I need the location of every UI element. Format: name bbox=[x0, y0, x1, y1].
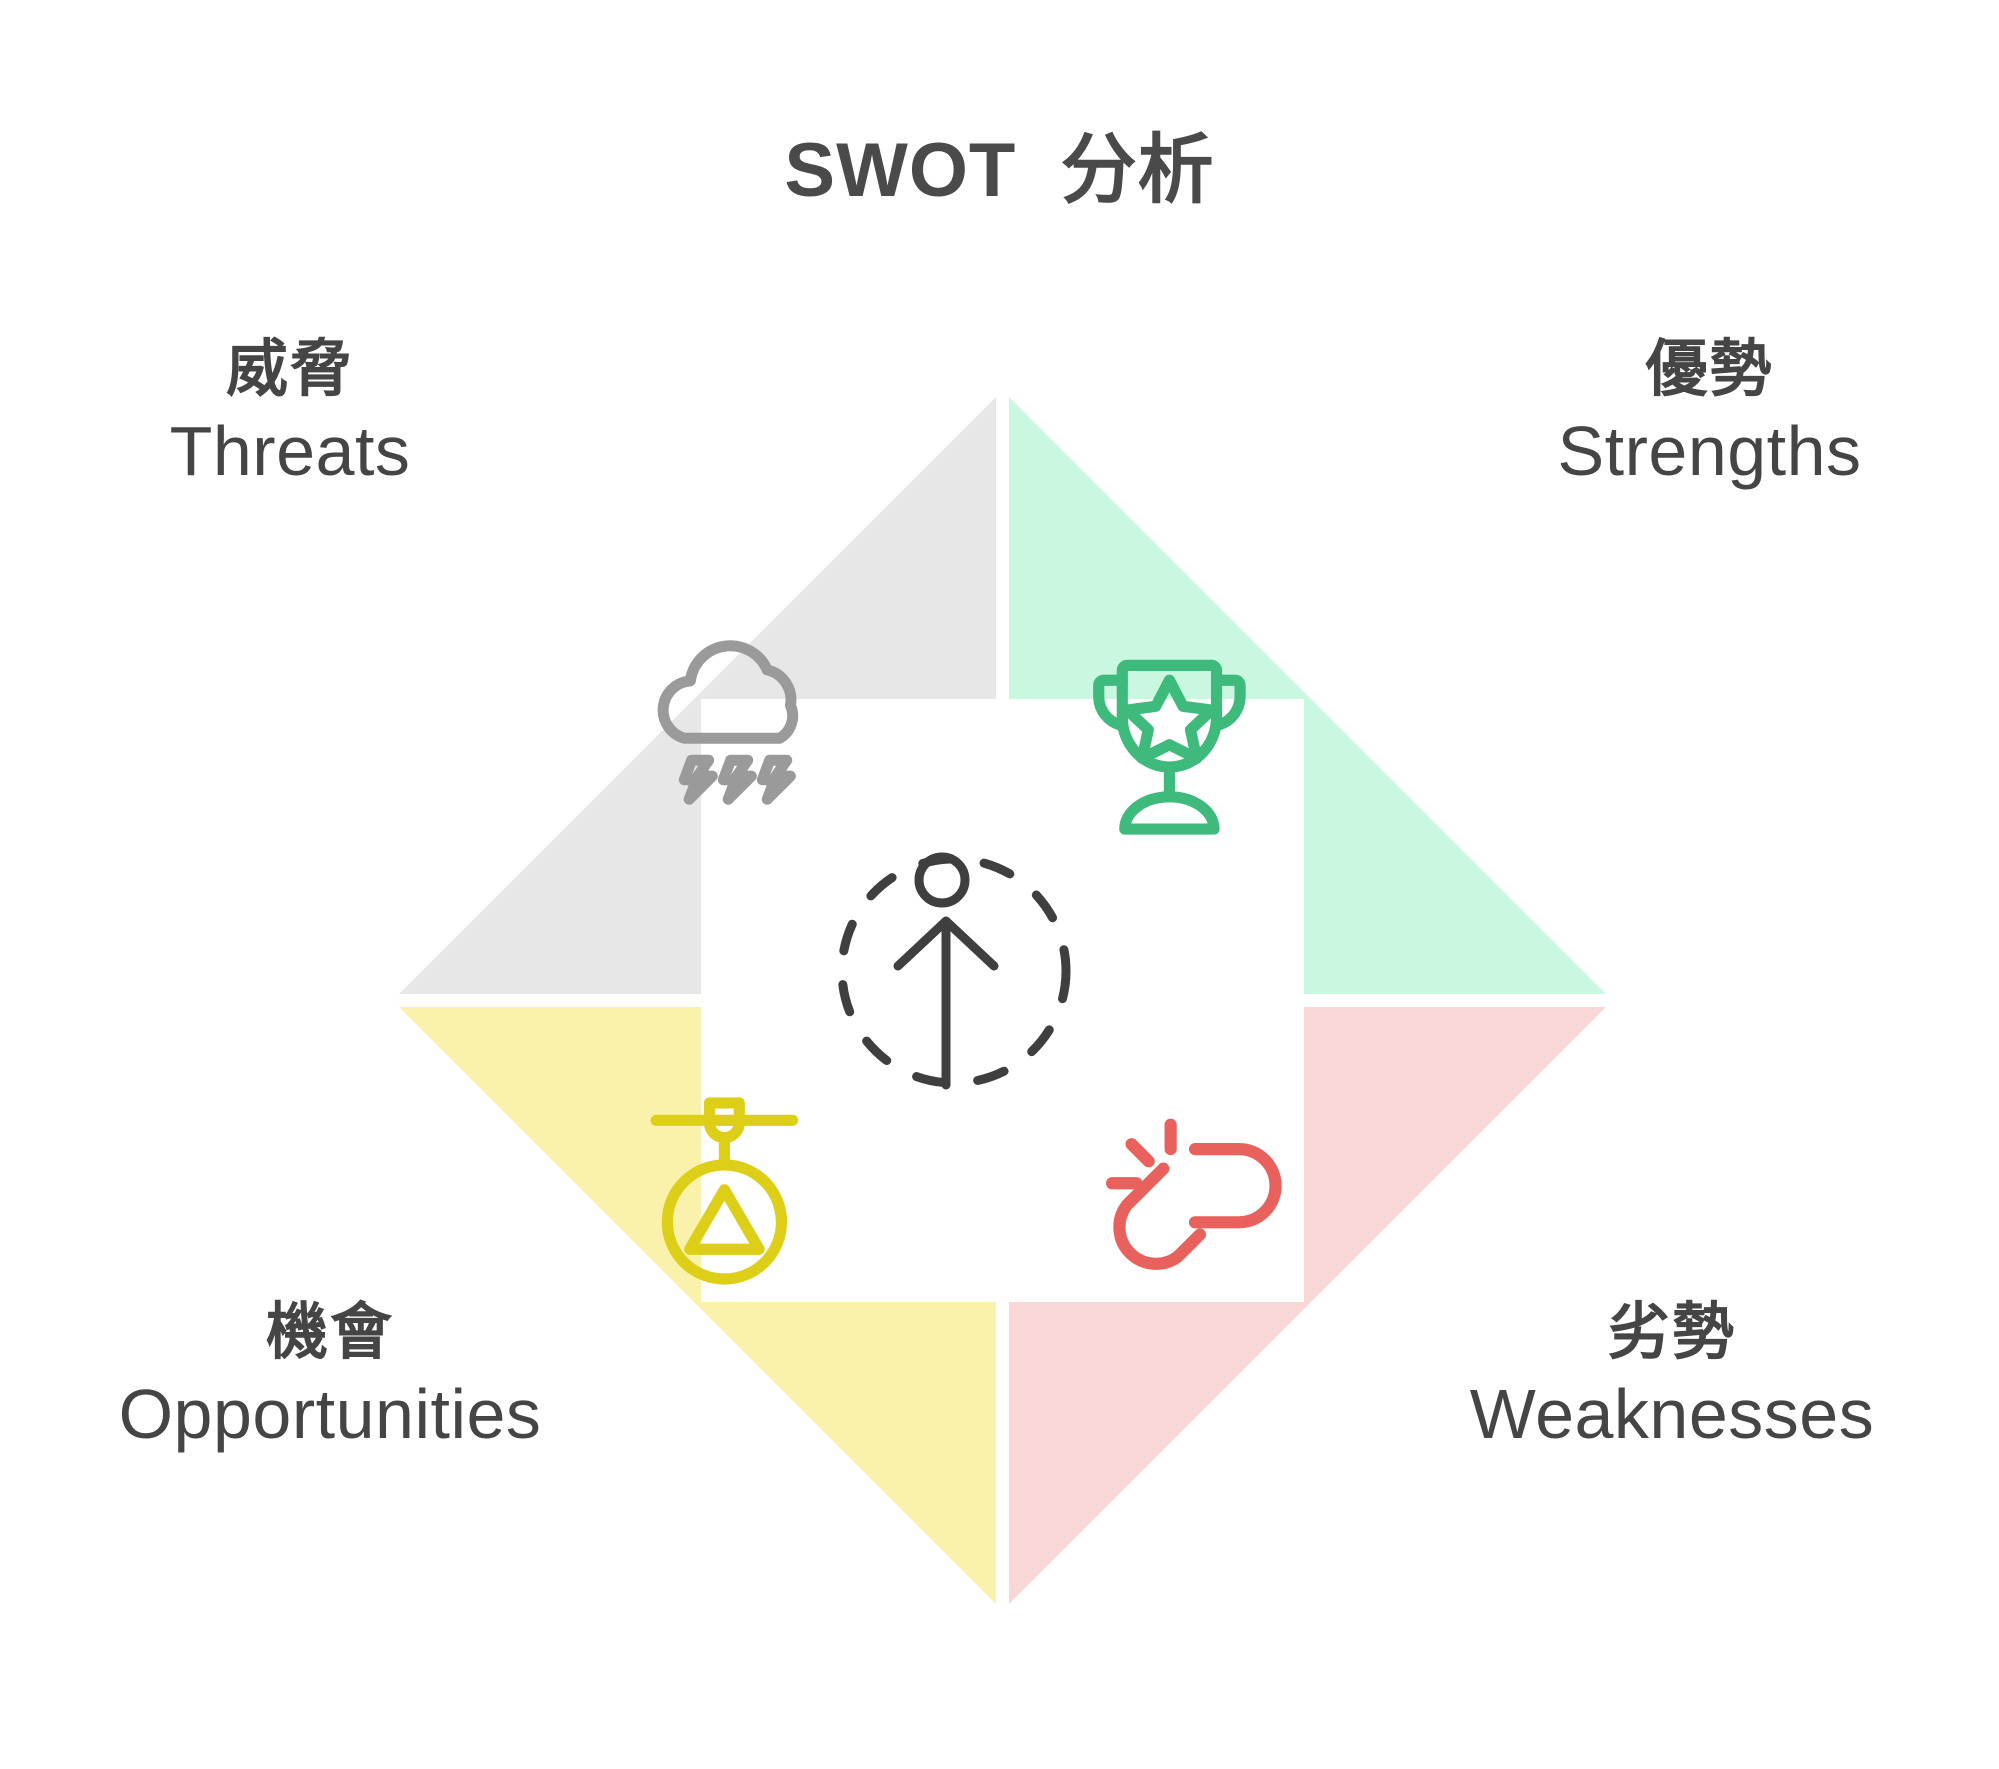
quadrant-label-threats: 威脅 Threats bbox=[0, 337, 580, 490]
quadrant-label-weaknesses-en: Weaknesses bbox=[1345, 1377, 1999, 1453]
quadrant-label-opportunities-zh: 機會 bbox=[0, 1300, 660, 1367]
quadrant-label-opportunities: 機會 Opportunities bbox=[0, 1300, 660, 1453]
quadrant-label-weaknesses: 劣勢 Weaknesses bbox=[1345, 1300, 1999, 1453]
quadrant-label-weaknesses-zh: 劣勢 bbox=[1345, 1300, 1999, 1367]
quadrant-label-strengths-zh: 優勢 bbox=[1420, 337, 1999, 404]
center-panel bbox=[701, 699, 1304, 1302]
quadrant-label-threats-zh: 威脅 bbox=[0, 337, 580, 404]
page-title: SWOT 分析 bbox=[0, 108, 1999, 218]
quadrant-label-strengths: 優勢 Strengths bbox=[1420, 337, 1999, 490]
quadrant-label-opportunities-en: Opportunities bbox=[0, 1377, 660, 1453]
swot-diagram-canvas: SWOT 分析 bbox=[0, 0, 1999, 1769]
quadrant-label-strengths-en: Strengths bbox=[1420, 414, 1999, 490]
quadrant-label-threats-en: Threats bbox=[0, 414, 580, 490]
